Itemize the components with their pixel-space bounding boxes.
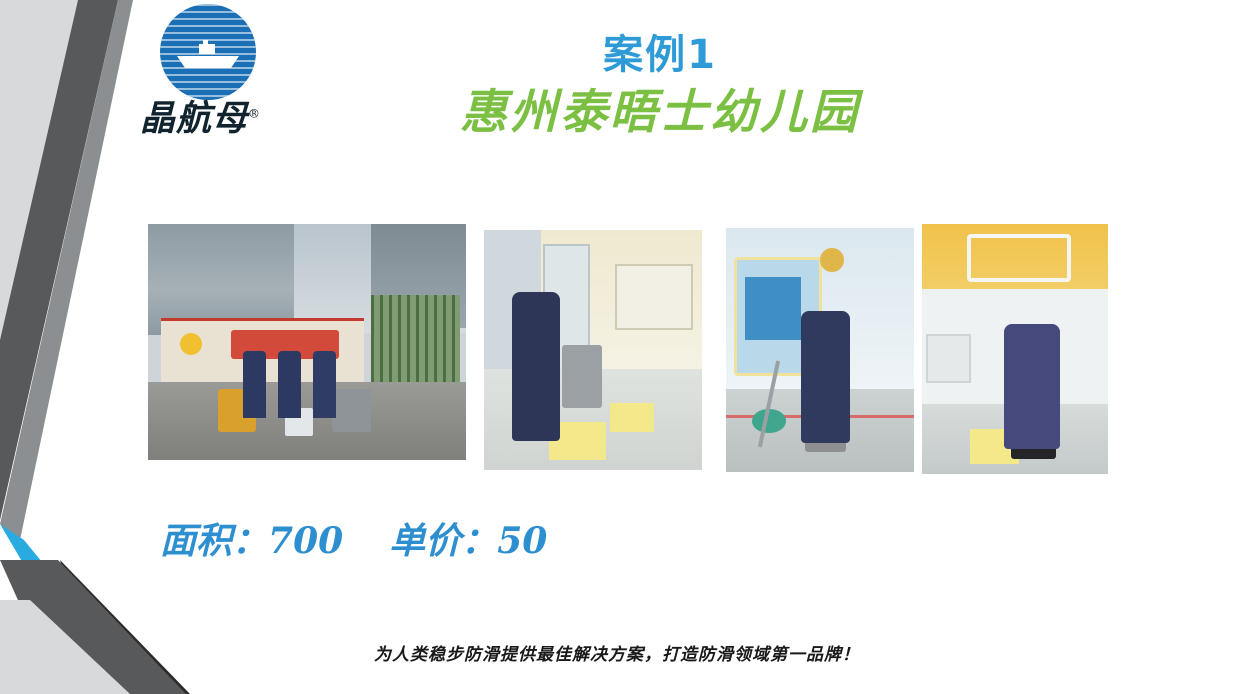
project-name-title: 惠州泰晤士幼儿园 bbox=[330, 86, 990, 140]
photo-kindergarten-entrance bbox=[148, 224, 466, 460]
company-logo: 晶航母® bbox=[140, 4, 310, 164]
case-number-title: 案例1 bbox=[330, 32, 990, 78]
logo-wordmark: 晶航母® bbox=[140, 90, 310, 141]
ship-icon bbox=[173, 40, 243, 74]
slide-root: 晶航母® 案例1 惠州泰晤士幼儿园 bbox=[0, 0, 1234, 694]
logo-badge bbox=[160, 4, 256, 100]
logo-brand-text: 晶航母 bbox=[140, 98, 248, 139]
area-value: 700 bbox=[268, 520, 343, 562]
photo-corridor-polishing bbox=[484, 230, 702, 470]
title-area: 案例1 惠州泰晤士幼儿园 bbox=[330, 32, 990, 140]
photo-classroom-mopping bbox=[726, 228, 914, 472]
project-stats: 面积：700单价：50 bbox=[160, 512, 547, 564]
price-label: 单价： bbox=[389, 520, 497, 562]
registered-mark: ® bbox=[248, 106, 261, 120]
area-label: 面积： bbox=[160, 520, 268, 562]
footer-slogan: 为人类稳步防滑提供最佳解决方案，打造防滑领域第一品牌！ bbox=[0, 640, 1234, 665]
price-value: 50 bbox=[497, 520, 547, 562]
photo-bathroom-treatment bbox=[922, 224, 1108, 474]
photo-gallery bbox=[148, 224, 1108, 474]
